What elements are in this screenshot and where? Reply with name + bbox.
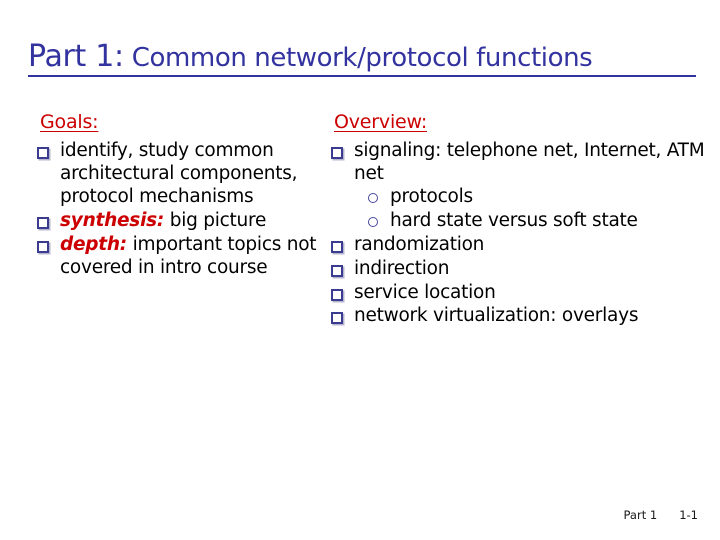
overview-column: Overview: signaling: telephone net, Inte… xyxy=(328,112,708,329)
list-item: depth: important topics not covered in i… xyxy=(34,234,330,280)
list-item-label: randomization xyxy=(354,234,484,255)
square-bullet-icon xyxy=(331,312,343,324)
list-item: network virtualization: overlays xyxy=(328,305,708,328)
overview-heading: Overview: xyxy=(334,112,708,133)
list-item: hard state versus soft state xyxy=(354,210,708,233)
list-item-label: hard state versus soft state xyxy=(390,210,638,231)
footer-page-number: 1-1 xyxy=(679,508,698,522)
list-item-label: protocols xyxy=(390,186,473,207)
footer-label: Part 1 xyxy=(624,508,658,522)
list-item-emphasis: depth: xyxy=(60,234,127,255)
list-item: randomization xyxy=(328,234,708,257)
slide-canvas: Part 1: Common network/protocol function… xyxy=(0,0,720,540)
square-bullet-icon xyxy=(331,265,343,277)
square-bullet-icon xyxy=(331,241,343,253)
list-item: service location xyxy=(328,282,708,305)
list-item-emphasis: synthesis: xyxy=(60,210,164,231)
overview-sublist: protocols hard state versus soft state xyxy=(354,186,708,233)
list-item: signaling: telephone net, Internet, ATM … xyxy=(328,140,708,233)
slide-title-lead: Part 1: xyxy=(28,39,124,74)
list-item-label: service location xyxy=(354,282,496,303)
list-item-label: identify, study common architectural com… xyxy=(60,140,297,207)
goals-heading: Goals: xyxy=(40,112,330,133)
list-item-label: indirection xyxy=(354,258,449,279)
square-bullet-icon xyxy=(331,289,343,301)
list-item: synthesis: big picture xyxy=(34,210,330,233)
square-bullet-icon xyxy=(37,217,49,229)
goals-list: identify, study common architectural com… xyxy=(34,140,330,280)
list-item: identify, study common architectural com… xyxy=(34,140,330,209)
square-bullet-icon xyxy=(37,147,49,159)
overview-list: signaling: telephone net, Internet, ATM … xyxy=(328,140,708,329)
list-item-label: big picture xyxy=(164,210,266,231)
slide-footer: Part 11-1 xyxy=(624,508,698,522)
list-item-label: network virtualization: overlays xyxy=(354,305,638,326)
square-bullet-icon xyxy=(331,147,343,159)
slide-title: Part 1: Common network/protocol function… xyxy=(28,42,696,77)
list-item: protocols xyxy=(354,186,708,209)
circle-bullet-icon xyxy=(368,193,378,203)
list-item: indirection xyxy=(328,258,708,281)
square-bullet-icon xyxy=(37,241,49,253)
circle-bullet-icon xyxy=(368,217,378,227)
goals-column: Goals: identify, study common architectu… xyxy=(34,112,330,281)
list-item-label: signaling: telephone net, Internet, ATM … xyxy=(354,140,704,184)
slide-title-rest: Common network/protocol functions xyxy=(124,43,592,73)
